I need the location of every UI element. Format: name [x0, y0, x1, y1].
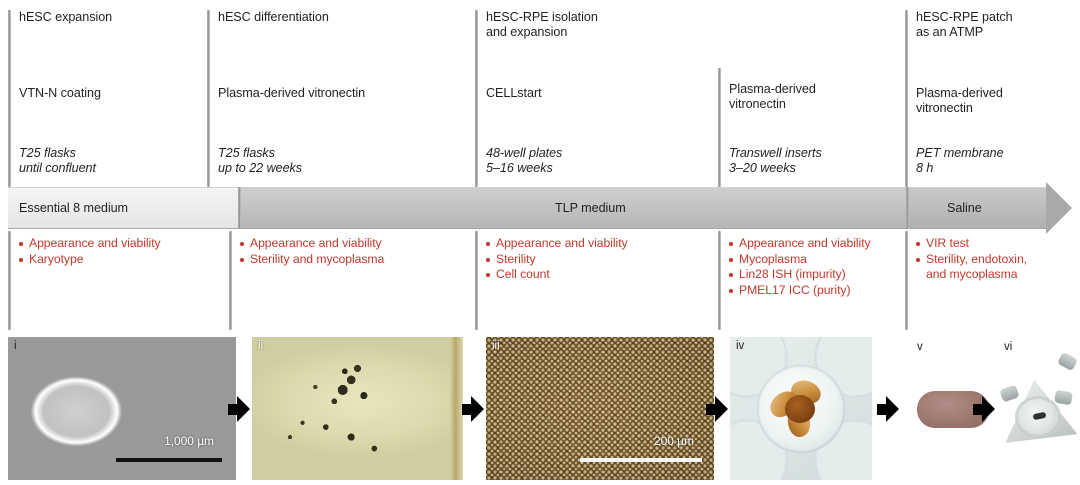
tissue-core: [785, 395, 815, 423]
process-arrow-iv-to-v: [877, 396, 899, 422]
panel-vi-image: [995, 337, 1080, 480]
qc-column-4: Appearance and viability Mycoplasma Lin2…: [718, 236, 905, 298]
qc-list-1: Appearance and viability Karyotype: [19, 236, 229, 267]
qc-item: Sterility, endotoxin, and mycoplasma: [916, 252, 1080, 283]
divider-left-edge: [8, 10, 11, 187]
delivery-device-tab: [1057, 352, 1078, 371]
arrow-head: [886, 396, 899, 422]
band-segment-saline: Saline: [908, 187, 1046, 229]
panel-iv-numeral: iv: [736, 340, 744, 352]
panel-iii-numeral: iii: [492, 340, 500, 352]
stage-2-vessel: T25 flasks up to 22 weeks: [218, 146, 302, 176]
panel-vi-numeral: vi: [1004, 341, 1012, 353]
qc-item: PMEL17 ICC (purity): [729, 283, 905, 299]
qc-list-2: Appearance and viability Sterility and m…: [240, 236, 475, 267]
band-divider-1: [238, 187, 241, 229]
panel-ii-numeral: ii: [258, 340, 263, 352]
stage-column-3: hESC-RPE isolation and expansion CELLsta…: [475, 10, 718, 39]
panel-vi: vi: [995, 337, 1080, 480]
stage-column-2: hESC differentiation Plasma-derived vitr…: [207, 10, 475, 25]
band-label-saline: Saline: [947, 201, 982, 215]
panel-iv: iv: [730, 337, 872, 480]
qc-item: Sterility and mycoplasma: [240, 252, 475, 268]
delivery-device-tab: [1054, 390, 1073, 406]
stage-5-coating: Plasma-derived vitronectin: [916, 86, 1003, 115]
stage-1-vessel: T25 flasks until confluent: [19, 146, 96, 176]
arrow-head: [237, 396, 250, 422]
stage-2-coating: Plasma-derived vitronectin: [218, 86, 365, 101]
band-divider-2: [906, 187, 909, 229]
panel-ii-image: [252, 337, 463, 480]
stage-4-coating: Plasma-derived vitronectin: [729, 82, 816, 111]
band-label-tlp: TLP medium: [555, 201, 626, 215]
arrow-head: [982, 396, 995, 422]
delivery-device-tab: [999, 384, 1019, 402]
qc-item: VIR test: [916, 236, 1080, 252]
panel-iii: iii 200 µm: [486, 337, 714, 480]
band-arrow-tip: [1046, 182, 1072, 234]
qc-column-2: Appearance and viability Sterility and m…: [229, 236, 475, 267]
panel-i-scale-bar: [116, 458, 222, 462]
panel-ii: ii: [252, 337, 463, 480]
divider-stage-1-2: [207, 10, 210, 187]
band-segment-essential8: Essential 8 medium: [8, 187, 240, 229]
divider-stage-3-4: [718, 68, 721, 187]
qc-item: Sterility: [486, 252, 718, 268]
panel-v-numeral: v: [917, 341, 923, 353]
panel-iii-scale-label: 200 µm: [654, 434, 694, 448]
band-label-essential8: Essential 8 medium: [19, 201, 128, 215]
qc-list-3: Appearance and viability Sterility Cell …: [486, 236, 718, 283]
stage-column-1: hESC expansion VTN-N coating T25 flasks …: [8, 10, 207, 25]
stage-3-coating: CELLstart: [486, 86, 542, 101]
stage-3-vessel: 48-well plates 5–16 weeks: [486, 146, 562, 176]
qc-list-5: VIR test Sterility, endotoxin, and mycop…: [916, 236, 1080, 283]
qc-column-1: Appearance and viability Karyotype: [8, 236, 229, 267]
panel-i-numeral: i: [14, 340, 17, 352]
qc-item: Lin28 ISH (impurity): [729, 267, 905, 283]
qc-item: Appearance and viability: [19, 236, 229, 252]
qc-item: Appearance and viability: [486, 236, 718, 252]
panel-i-scale-label: 1,000 µm: [164, 434, 214, 448]
stage-column-5: hESC-RPE patch as an ATMP Plasma-derived…: [905, 10, 1080, 39]
figure-panel: hESC expansion VTN-N coating T25 flasks …: [0, 0, 1080, 485]
process-arrow-i-to-ii: [228, 396, 250, 422]
qc-column-5: VIR test Sterility, endotoxin, and mycop…: [905, 236, 1080, 283]
qc-item: Appearance and viability: [729, 236, 905, 252]
qc-item: Mycoplasma: [729, 252, 905, 268]
qc-list-4: Appearance and viability Mycoplasma Lin2…: [729, 236, 905, 298]
qc-item: Karyotype: [19, 252, 229, 268]
stage-1-coating: VTN-N coating: [19, 86, 101, 101]
panel-i: i 1,000 µm: [8, 337, 236, 480]
panel-iii-scale-bar: [580, 458, 702, 462]
stage-3-title: hESC-RPE isolation and expansion: [486, 10, 718, 39]
media-arrow-band: Essential 8 medium TLP medium Saline: [8, 187, 1072, 229]
arrow-head: [471, 396, 484, 422]
stage-5-vessel: PET membrane 8 h: [916, 146, 1004, 176]
process-arrow-ii-to-iii: [462, 396, 484, 422]
process-arrow-v-to-vi: [973, 396, 995, 422]
band-segment-tlp: TLP medium: [240, 187, 908, 229]
stage-5-title: hESC-RPE patch as an ATMP: [916, 10, 1080, 39]
stage-4-vessel: Transwell inserts 3–20 weeks: [729, 146, 822, 176]
arrow-head: [715, 396, 728, 422]
panel-iv-image: [730, 337, 872, 480]
stage-1-title: hESC expansion: [19, 10, 207, 25]
process-arrow-iii-to-iv: [706, 396, 728, 422]
stage-2-title: hESC differentiation: [218, 10, 475, 25]
qc-column-3: Appearance and viability Sterility Cell …: [475, 236, 718, 283]
qc-item: Appearance and viability: [240, 236, 475, 252]
rpe-tissue-lobes: [775, 383, 827, 435]
qc-item: Cell count: [486, 267, 718, 283]
